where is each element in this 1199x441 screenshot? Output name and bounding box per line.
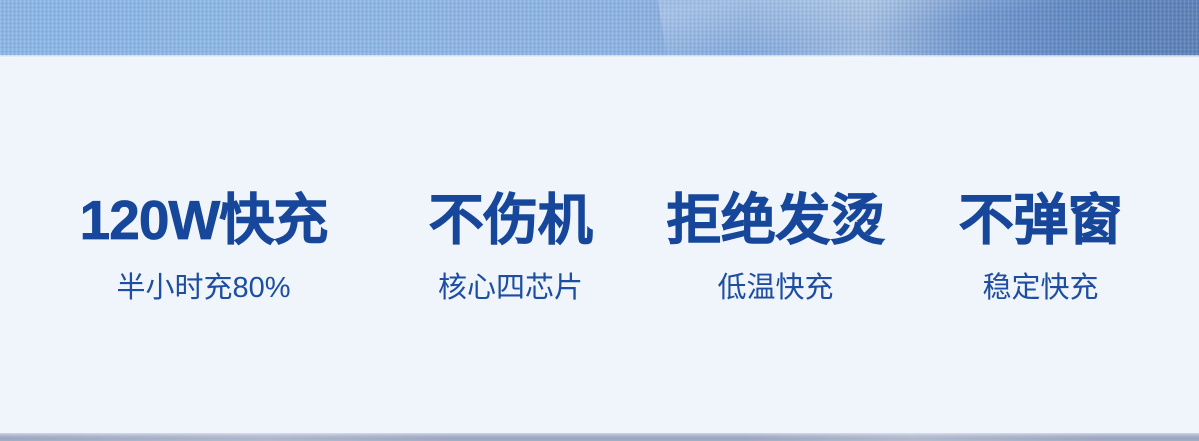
- feature-headline: 不弹窗: [910, 186, 1172, 254]
- feature-headline: 不伤机: [380, 186, 642, 254]
- product-feature-banner: 120W快充 半小时充80% 不伤机 核心四芯片 拒绝发烫 低温快充 不弹窗 稳…: [0, 0, 1199, 441]
- feature-headline: 120W快充: [28, 186, 380, 254]
- gray-blue-edge-strip: [0, 433, 1199, 441]
- feature-item-fast-charge: 120W快充 半小时充80%: [28, 186, 380, 308]
- edge-strip-sheen: [0, 433, 1199, 441]
- fabric-band-bottom-edge: [0, 55, 1199, 58]
- feature-subtitle: 低温快充: [642, 268, 910, 308]
- feature-item-no-device-damage: 不伤机 核心四芯片: [380, 186, 642, 308]
- feature-item-no-overheating: 拒绝发烫 低温快充: [642, 186, 910, 308]
- feature-list: 120W快充 半小时充80% 不伤机 核心四芯片 拒绝发烫 低温快充 不弹窗 稳…: [0, 186, 1199, 308]
- feature-subtitle: 核心四芯片: [380, 268, 642, 308]
- feature-subtitle: 稳定快充: [910, 268, 1172, 308]
- denim-fabric-texture-band: [0, 0, 1199, 58]
- feature-headline: 拒绝发烫: [642, 186, 910, 254]
- feature-item-no-popup: 不弹窗 稳定快充: [910, 186, 1172, 308]
- feature-subtitle: 半小时充80%: [28, 268, 380, 308]
